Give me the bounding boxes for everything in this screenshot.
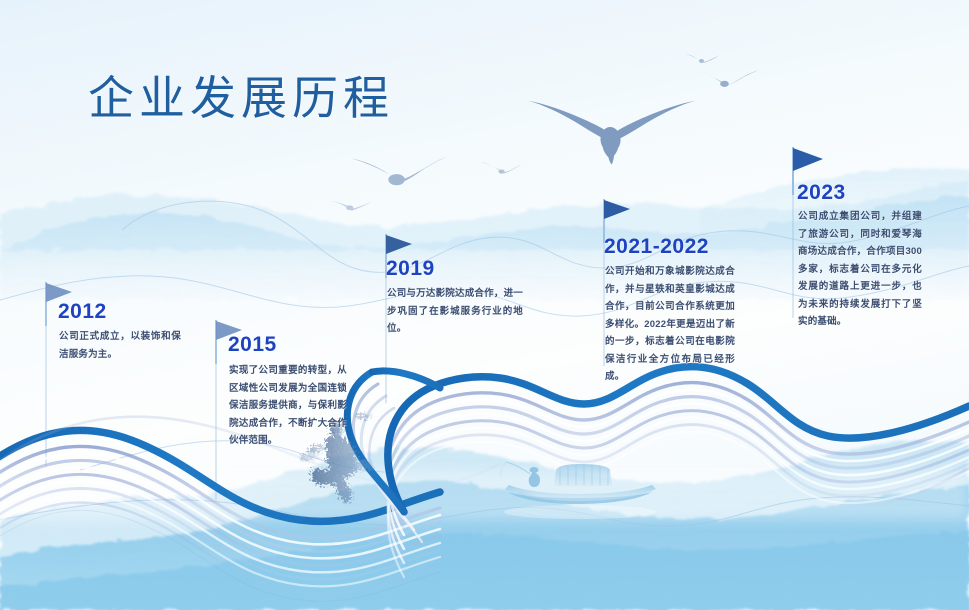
milestone-year: 2015	[228, 333, 277, 357]
milestone-description: 公司与万达影院达成合作，进一步巩固了在影城服务行业的地位。	[387, 285, 523, 338]
seagull-far-icon	[685, 54, 721, 64]
seagull-low-icon	[328, 200, 372, 210]
seagull-tiny-icon	[480, 162, 522, 174]
milestone-description: 公司成立集团公司，并组建了旅游公司，同时和爱琴海商场达成合作，合作项目300多家…	[798, 208, 922, 331]
milestone-description: 公司开始和万象城影院达成合作，并与星轶和英皇影城达成合作，目前公司合作系统更加多…	[605, 263, 735, 386]
milestone-year: 2023	[797, 181, 846, 205]
milestone-year: 2019	[386, 257, 435, 281]
seagull-large-icon	[528, 101, 696, 165]
seagull-small-icon	[701, 70, 759, 87]
milestone-year: 2012	[58, 300, 107, 324]
milestone-description: 实现了公司重要的转型，从区域性公司发展为全国连锁保洁服务提供商，与保利影院达成合…	[229, 362, 347, 450]
page-title: 企业发展历程	[88, 62, 394, 128]
milestone-description: 公司正式成立，以装饰和保洁服务为主。	[59, 328, 181, 363]
infographic-canvas: 企业发展历程 2012 公司正式成立，以装饰和保洁服务为主。 2015 实现了公…	[0, 0, 969, 610]
milestone-year: 2021-2022	[604, 235, 709, 259]
seagull-left-icon	[352, 157, 448, 186]
